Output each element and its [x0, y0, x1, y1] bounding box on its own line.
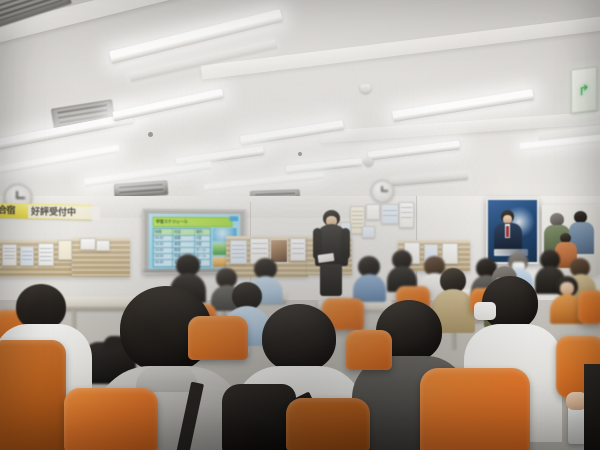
exit-arrow-icon: ↱ — [576, 78, 592, 102]
smoke-detector — [360, 84, 371, 93]
posted-flyer — [20, 246, 34, 266]
posted-flyer — [230, 240, 247, 264]
wall-clock-right — [371, 180, 394, 203]
orange-chair — [420, 368, 530, 450]
slide-cell: 16:30 — [154, 259, 173, 265]
presenter-arm — [341, 228, 350, 260]
posted-flyer — [2, 244, 17, 266]
fluorescent-tube — [368, 140, 460, 160]
fluorescent-tube — [392, 173, 468, 187]
black-backpack — [222, 384, 296, 450]
smoke-detector — [364, 158, 373, 166]
orange-chair — [188, 316, 248, 360]
poster-figure-tie — [506, 226, 509, 237]
promo-banner-sub-text: 好評受付中 — [31, 205, 76, 219]
orange-chair — [346, 330, 392, 370]
fluorescent-tube — [0, 145, 120, 175]
ceiling-sensor-icon — [298, 152, 302, 156]
fluorescent-tube — [204, 172, 324, 192]
wall-notice — [399, 202, 414, 228]
fluorescent-tube — [109, 9, 283, 64]
orange-chair — [64, 388, 158, 450]
posted-flyer — [290, 238, 306, 261]
wall-notice — [362, 226, 375, 238]
slide-title: 学習スケジュール — [156, 218, 188, 226]
posted-flyer — [80, 238, 96, 250]
attendee-arm-far-right — [584, 364, 600, 450]
orange-chair — [286, 398, 370, 450]
orange-chair — [578, 290, 600, 324]
wall-notice — [381, 204, 399, 224]
exit-sign-icon: ↱ — [571, 66, 597, 113]
orange-chair — [0, 340, 66, 450]
slide-badge-icon — [230, 216, 239, 221]
posted-flyer — [442, 243, 458, 264]
photo-scene: ↱ 合宿 好評受付中 学習スケジュール — [0, 0, 600, 450]
presenter-legs — [320, 264, 342, 296]
fluorescent-tube — [112, 88, 224, 121]
wall-notice — [366, 204, 380, 220]
ceiling-sensor-icon — [148, 132, 153, 137]
promo-banner-sub: 好評受付中 — [28, 205, 100, 220]
posted-flyer — [58, 240, 72, 260]
posted-flyer — [38, 243, 54, 266]
posted-flyer — [96, 240, 110, 251]
fluorescent-tube — [286, 158, 362, 174]
slide-header-band: 学習スケジュール — [153, 217, 233, 227]
